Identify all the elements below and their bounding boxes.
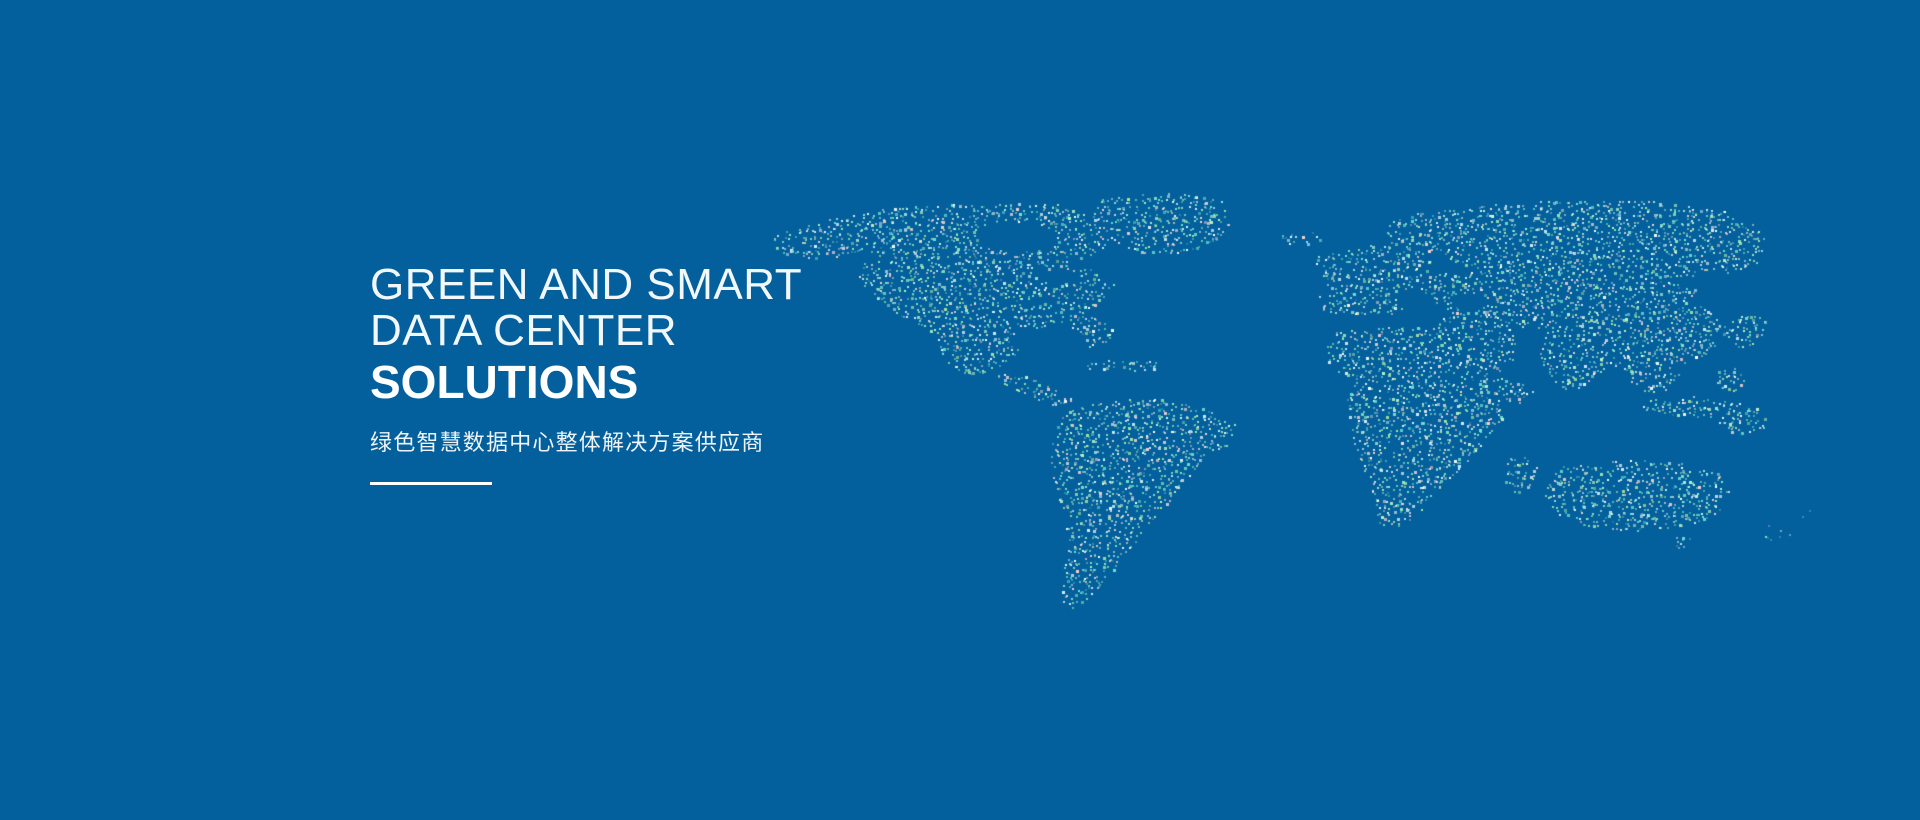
hero-banner: GREEN AND SMART DATA CENTER SOLUTIONS 绿色… [0,0,1920,820]
headline-line-3: SOLUTIONS [370,356,1130,408]
headline-line-1: GREEN AND SMART [370,262,1130,308]
subtitle-chinese: 绿色智慧数据中心整体解决方案供应商 [370,428,1130,458]
headline-line-2: DATA CENTER [370,308,1130,354]
headline-block: GREEN AND SMART DATA CENTER SOLUTIONS 绿色… [370,262,1130,485]
headline-divider-rule [370,482,492,485]
